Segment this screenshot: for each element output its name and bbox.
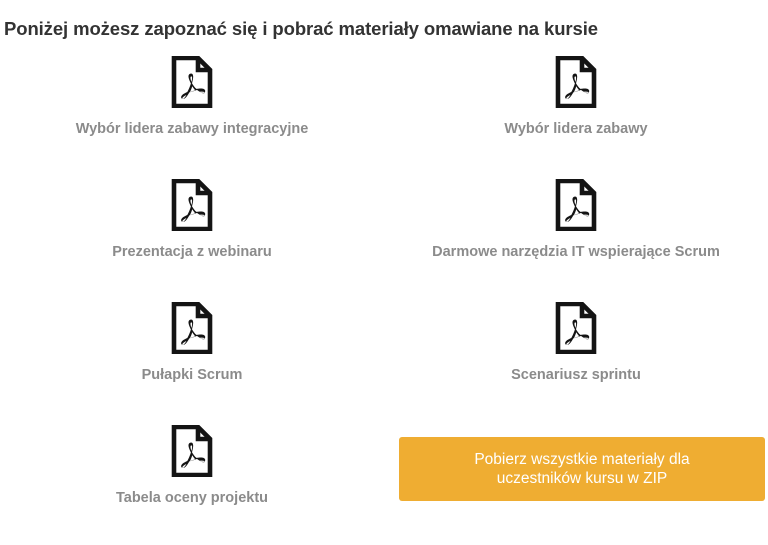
material-download-link[interactable]: Wybór lidera zabawy (504, 56, 647, 138)
material-download-link[interactable]: Pułapki Scrum (142, 302, 243, 384)
materials-cell: Wybór lidera zabawy (384, 56, 768, 179)
material-label: Wybór lidera zabawy (504, 121, 647, 138)
material-label: Tabela oceny projektu (116, 490, 268, 507)
materials-cell: Pułapki Scrum (0, 302, 384, 425)
material-download-link[interactable]: Prezentacja z webinaru (112, 179, 272, 261)
zip-button-line-1: Pobierz wszystkie materiały dla (474, 450, 689, 469)
pdf-file-icon (171, 56, 213, 108)
materials-row: Prezentacja z webinaru Darmowe narzędzia… (0, 179, 768, 302)
material-download-link[interactable]: Wybór lidera zabawy integracyjne (76, 56, 309, 138)
materials-cell: Scenariusz sprintu (384, 302, 768, 425)
material-label: Darmowe narzędzia IT wspierające Scrum (432, 244, 720, 261)
materials-row: Pułapki Scrum Scenariusz sprintu (0, 302, 768, 425)
pdf-file-icon (171, 302, 213, 354)
pdf-file-icon (555, 56, 597, 108)
zip-button-line-2: uczestników kursu w ZIP (474, 469, 689, 488)
material-download-link[interactable]: Darmowe narzędzia IT wspierające Scrum (432, 179, 720, 261)
materials-cell: Tabela oceny projektu (0, 425, 384, 545)
material-download-link[interactable]: Tabela oceny projektu (116, 425, 268, 507)
material-label: Scenariusz sprintu (511, 367, 641, 384)
material-label: Pułapki Scrum (142, 367, 243, 384)
material-label: Prezentacja z webinaru (112, 244, 272, 261)
materials-cell: Darmowe narzędzia IT wspierające Scrum (384, 179, 768, 302)
page-title: Poniżej możesz zapoznać się i pobrać mat… (4, 18, 598, 40)
pdf-file-icon (555, 302, 597, 354)
material-label: Wybór lidera zabawy integracyjne (76, 121, 309, 138)
materials-cell: Wybór lidera zabawy integracyjne (0, 56, 384, 179)
download-all-zip-button[interactable]: Pobierz wszystkie materiały dla uczestni… (399, 437, 765, 501)
materials-row: Wybór lidera zabawy integracyjne Wybór l… (0, 56, 768, 179)
pdf-file-icon (555, 179, 597, 231)
zip-button-text: Pobierz wszystkie materiały dla uczestni… (474, 450, 689, 488)
materials-cell: Prezentacja z webinaru (0, 179, 384, 302)
material-download-link[interactable]: Scenariusz sprintu (511, 302, 641, 384)
pdf-file-icon (171, 179, 213, 231)
pdf-file-icon (171, 425, 213, 477)
